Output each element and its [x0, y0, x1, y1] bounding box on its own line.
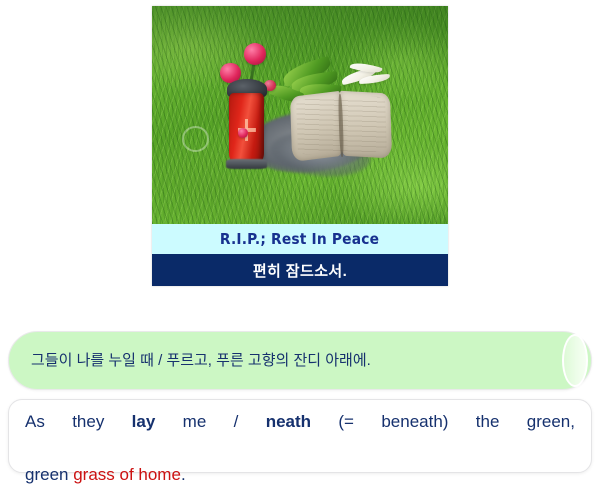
- grave-photo: [152, 6, 448, 224]
- en-text-part-3: (= beneath) the green,: [311, 412, 575, 431]
- candle-lantern-base: [226, 159, 267, 170]
- en-bold-lay: lay: [132, 412, 156, 431]
- pink-flower-4: [238, 128, 248, 138]
- english-sentence-box: As they lay me / neath (= beneath) the g…: [8, 399, 592, 473]
- pink-flower-1: [244, 43, 266, 65]
- en-text-part-4: green: [25, 465, 73, 484]
- english-sentence-line-1: As they lay me / neath (= beneath) the g…: [25, 409, 575, 462]
- copyright-watermark-icon: [182, 126, 210, 152]
- en-red-grass-of-home: grass of home: [73, 465, 181, 484]
- english-caption-banner: R.I.P.; Rest In Peace: [152, 224, 448, 254]
- english-sentence-line-2: green grass of home.: [25, 462, 575, 488]
- korean-translation-text: 그들이 나를 누일 때 / 푸르고, 푸른 고향의 잔디 아래에.: [31, 332, 551, 391]
- white-lily-flower: [341, 63, 391, 91]
- open-stone-book: [290, 91, 393, 160]
- en-text-part-1: As they: [25, 412, 132, 431]
- capsule-end-cap: [562, 334, 588, 387]
- en-text-part-2: me /: [155, 412, 265, 431]
- rip-image-card: R.I.P.; Rest In Peace 편히 잠드소서.: [152, 6, 448, 286]
- korean-translation-box: 그들이 나를 누일 때 / 푸르고, 푸른 고향의 잔디 아래에.: [8, 331, 592, 390]
- korean-caption-text: 편히 잠드소서.: [253, 260, 347, 281]
- english-sentence-text: As they lay me / neath (= beneath) the g…: [25, 409, 575, 488]
- en-bold-neath: neath: [266, 412, 311, 431]
- english-caption-text: R.I.P.; Rest In Peace: [220, 230, 379, 248]
- en-text-part-5: .: [181, 465, 186, 484]
- korean-caption-banner: 편히 잠드소서.: [152, 254, 448, 286]
